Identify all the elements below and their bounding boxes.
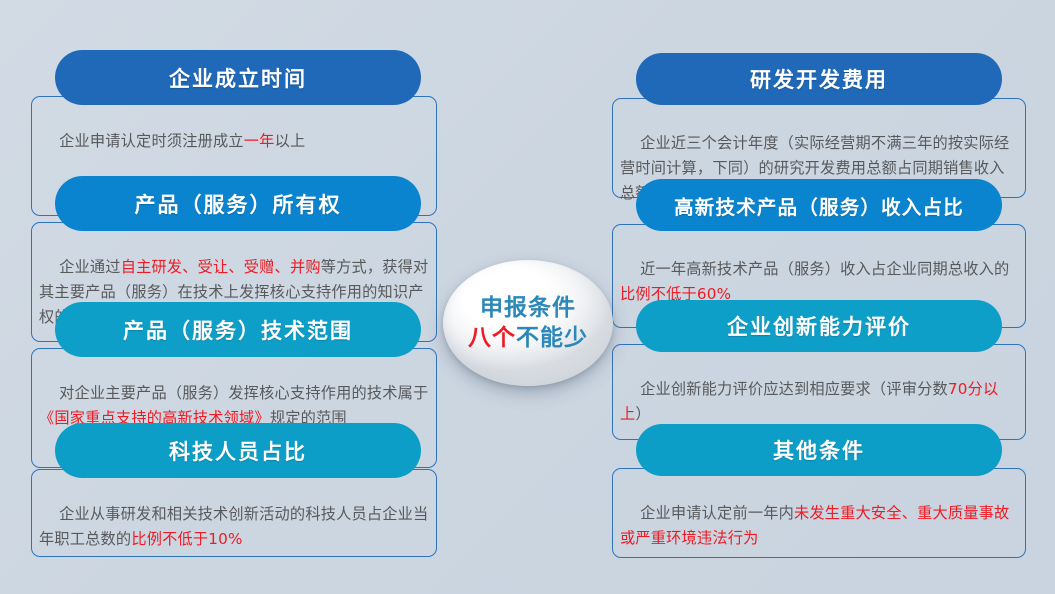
- condition-header-right-1[interactable]: 研发开发费用: [636, 53, 1002, 105]
- condition-header-left-3[interactable]: 产品（服务）技术范围: [55, 302, 421, 357]
- condition-header-right-4[interactable]: 其他条件: [636, 424, 1002, 476]
- center-badge-line1: 申报条件: [480, 293, 576, 323]
- condition-header-label: 产品（服务）所有权: [135, 189, 342, 219]
- body-text-highlight: 一年: [244, 132, 275, 150]
- center-badge-line2: 八个不能少: [468, 323, 588, 353]
- condition-body-right-4: 企业申请认定前一年内未发生重大安全、重大质量事故或严重环境违法行为: [620, 476, 1020, 576]
- body-text-segment: 企业申请认定时须注册成立: [59, 132, 244, 150]
- condition-header-label: 研发开发费用: [750, 64, 888, 94]
- condition-header-label: 产品（服务）技术范围: [123, 315, 353, 345]
- condition-header-label: 高新技术产品（服务）收入占比: [674, 191, 964, 220]
- condition-header-right-3[interactable]: 企业创新能力评价: [636, 300, 1002, 352]
- body-text-segment: 企业创新能力评价应达到相应要求（评审分数: [640, 380, 948, 398]
- body-text-segment: 企业申请认定前一年内: [640, 504, 794, 522]
- center-badge: 申报条件 八个不能少: [443, 260, 613, 386]
- body-text-highlight: 比例不低于10%: [131, 530, 242, 548]
- body-text-segment: 企业通过: [59, 258, 121, 276]
- condition-header-label: 企业成立时间: [169, 63, 307, 93]
- condition-body-left-4: 企业从事研发和相关技术创新活动的科技人员占企业当年职工总数的比例不低于10%: [39, 477, 433, 577]
- condition-header-left-1[interactable]: 企业成立时间: [55, 50, 421, 105]
- condition-header-right-2[interactable]: 高新技术产品（服务）收入占比: [636, 179, 1002, 231]
- body-text-highlight: 自主研发、受让、受赠、并购: [121, 258, 321, 276]
- body-text-segment: 对企业主要产品（服务）发挥核心支持作用的技术属于: [59, 384, 428, 402]
- condition-header-label: 企业创新能力评价: [727, 311, 911, 341]
- body-text-segment: 近一年高新技术产品（服务）收入占企业同期总收入的: [640, 260, 1009, 278]
- infographic-canvas: 企业申请认定时须注册成立一年以上 企业成立时间 企业通过自主研发、受让、受赠、并…: [0, 0, 1055, 594]
- center-badge-line2-rest: 不能少: [516, 325, 588, 351]
- condition-header-label: 科技人员占比: [169, 436, 307, 466]
- condition-header-left-2[interactable]: 产品（服务）所有权: [55, 176, 421, 231]
- condition-header-left-4[interactable]: 科技人员占比: [55, 423, 421, 478]
- body-text-segment: 以上: [275, 132, 306, 150]
- body-text-segment: ）: [635, 405, 650, 423]
- condition-header-label: 其他条件: [773, 435, 865, 465]
- center-badge-line2-red: 八个: [468, 325, 516, 351]
- condition-body-left-1: 企业申请认定时须注册成立一年以上: [39, 104, 433, 179]
